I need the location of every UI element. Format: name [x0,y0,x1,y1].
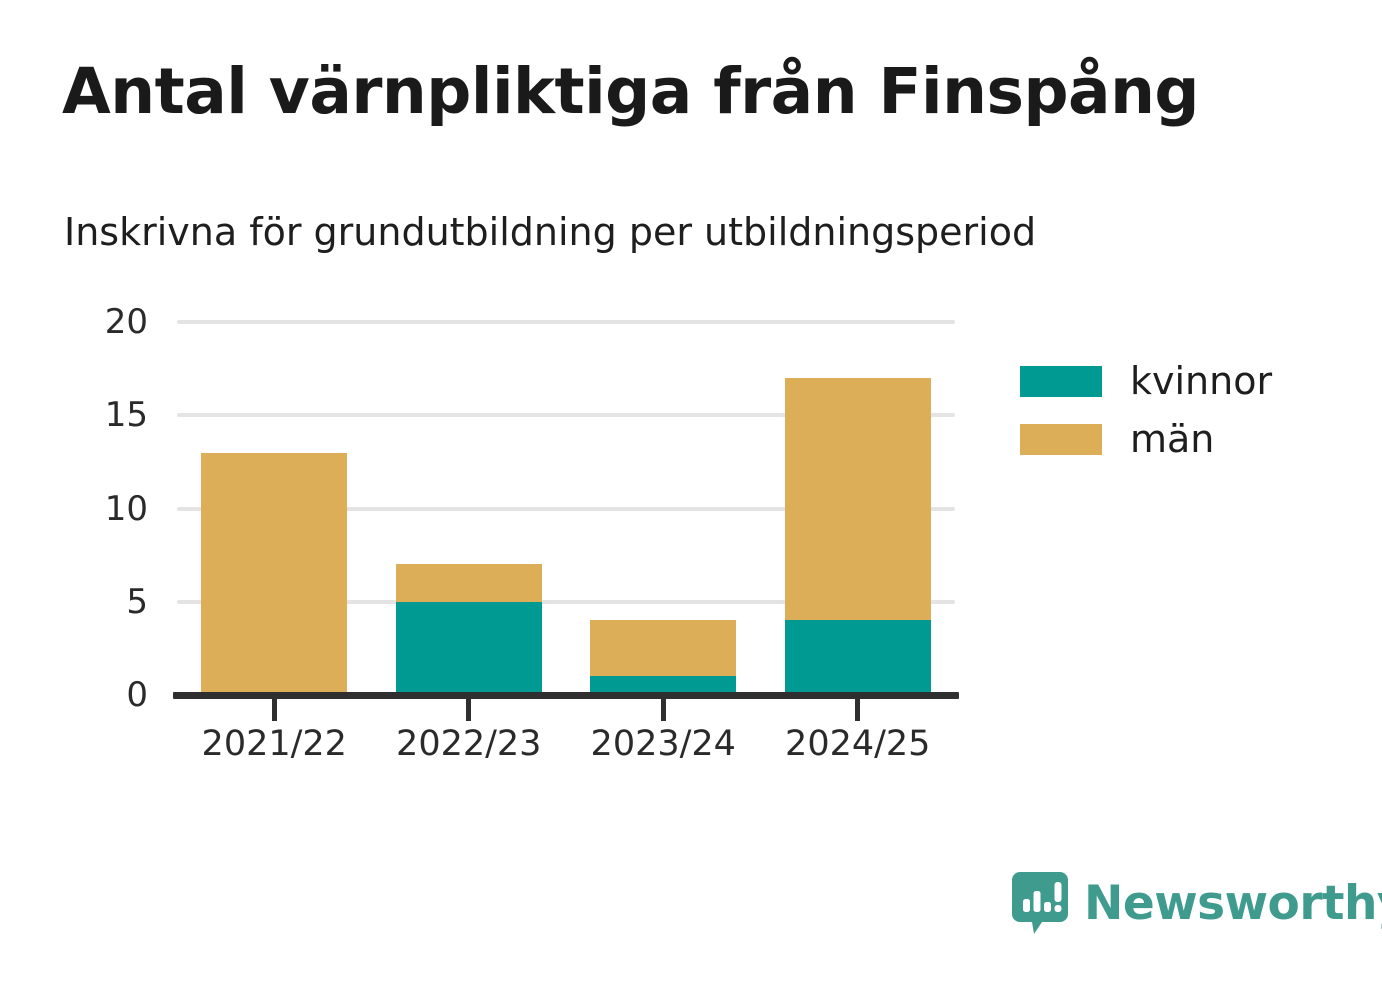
page-title: Antal värnpliktiga från Finspång [62,60,1262,123]
x-axis-tick-mark [466,699,471,721]
legend-label-kvinnor: kvinnor [1130,362,1272,400]
newsworthy-wordmark: Newsworthy [1084,880,1382,927]
legend-swatch-kvinnor [1020,366,1102,397]
x-axis-tick-label: 2021/22 [174,723,374,765]
chart-bubble-icon [1012,872,1068,934]
chart-figure: Antal värnpliktiga från Finspång Inskriv… [0,0,1382,999]
x-axis-tick-label: 2022/23 [369,723,569,765]
bar-segment-män[interactable] [396,564,542,601]
bar-segment-män[interactable] [785,378,931,620]
x-axis-tick-label: 2024/25 [758,723,958,765]
y-axis-tick-label: 5 [68,585,148,619]
x-axis-tick-label: 2023/24 [563,723,763,765]
bar-stack[interactable] [201,322,347,695]
bar-segment-kvinnor[interactable] [785,620,931,695]
x-axis-tick-mark [855,699,860,721]
y-axis-tick-label: 10 [68,492,148,526]
y-axis-tick-label: 20 [68,305,148,339]
bar-segment-män[interactable] [201,453,347,695]
legend-item-man[interactable]: män [1020,410,1272,468]
legend-label-man: män [1130,420,1214,458]
legend-swatch-man [1020,424,1102,455]
newsworthy-logo[interactable]: Newsworthy [1012,872,1382,934]
x-axis-tick-mark [272,699,277,721]
plot-area [177,322,955,695]
bar-stack[interactable] [396,322,542,695]
bar-segment-män[interactable] [590,620,736,676]
bar-stack[interactable] [590,322,736,695]
x-axis-line [173,692,959,699]
bar-segment-kvinnor[interactable] [396,602,542,695]
legend-item-kvinnor[interactable]: kvinnor [1020,352,1272,410]
y-axis-tick-label: 15 [68,398,148,432]
y-axis-tick-label: 0 [68,678,148,712]
bar-stack[interactable] [785,322,931,695]
chart-subtitle: Inskrivna för grundutbildning per utbild… [64,212,1314,254]
legend: kvinnor män [1020,352,1272,468]
x-axis-tick-mark [661,699,666,721]
